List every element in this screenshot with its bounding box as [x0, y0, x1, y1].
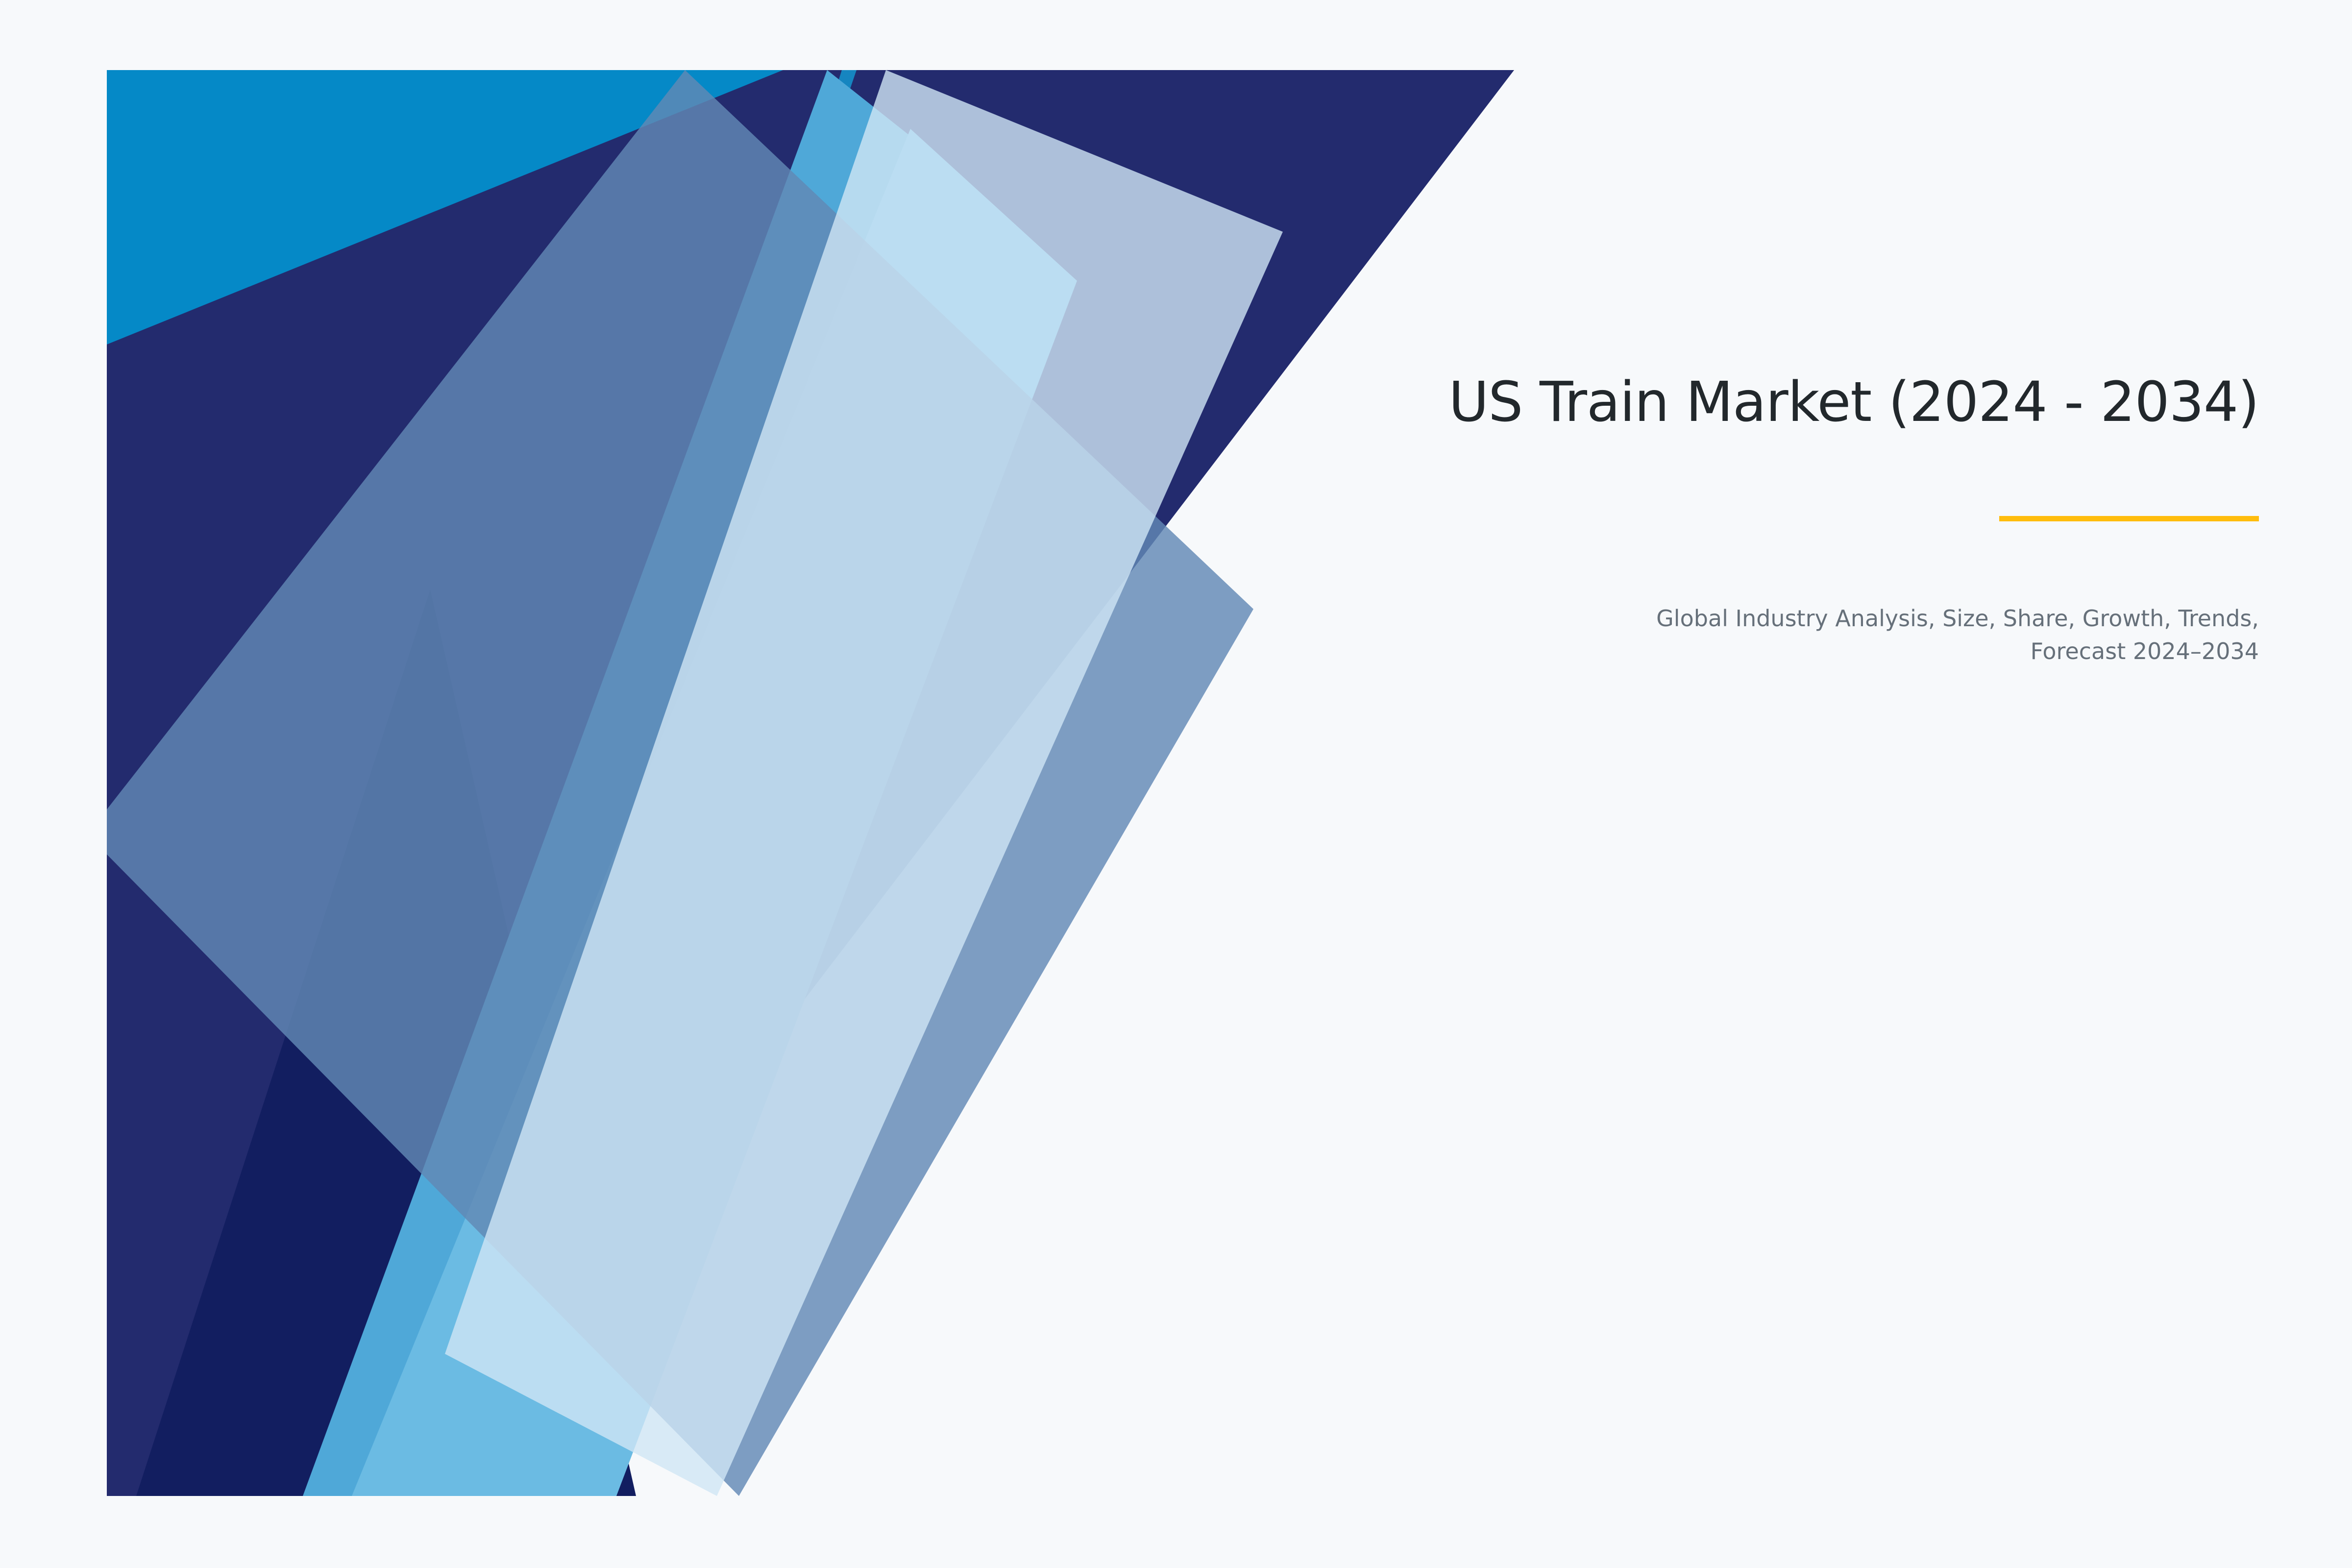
accent-rule-divider [1999, 516, 2259, 521]
page-subtitle: Global Industry Analysis, Size, Share, G… [1641, 602, 2259, 667]
slide-canvas: US Train Market (2024 - 2034) Global Ind… [0, 0, 2352, 1568]
page-title: US Train Market (2024 - 2034) [1107, 372, 2259, 433]
title-text-block: US Train Market (2024 - 2034) Global Ind… [1107, 372, 2259, 668]
abstract-geometric-artwork [107, 70, 1514, 1496]
artwork-svg [107, 70, 1514, 1496]
